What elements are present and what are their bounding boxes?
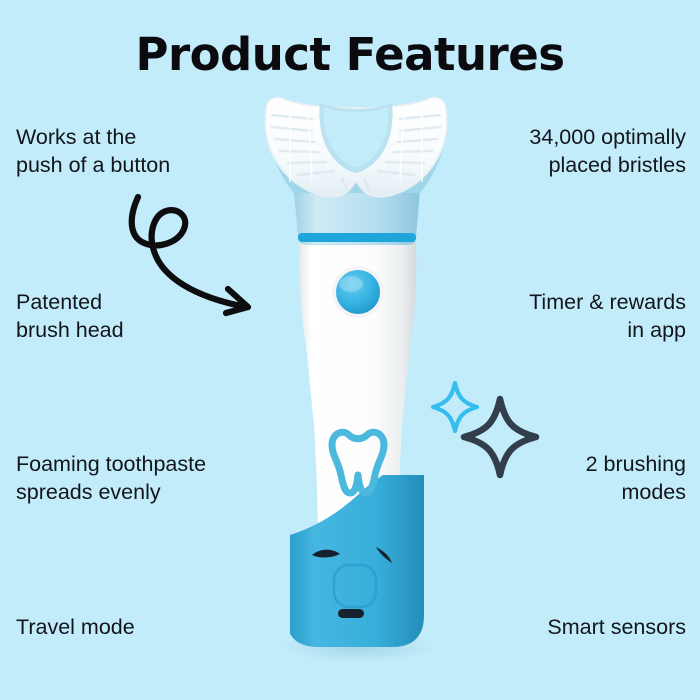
product-image-toothbrush	[250, 95, 460, 665]
feature-label-timer-and-rewards: Timer & rewards in app	[436, 288, 686, 345]
face-mouth-icon	[338, 609, 364, 618]
feature-label-foaming-toothpaste: Foaming toothpaste spreads evenly	[16, 450, 266, 507]
feature-label-travel-mode: Travel mode	[16, 613, 266, 641]
page-title: Product Features	[0, 28, 700, 81]
sparkle-large-icon	[464, 399, 536, 475]
product-accent-band	[298, 233, 416, 242]
product-features-poster: Product Features Works at the push of a …	[0, 0, 700, 700]
feature-label-bristle-count: 34,000 optimally placed bristles	[436, 123, 686, 180]
feature-label-smart-sensors: Smart sensors	[436, 613, 686, 641]
power-button[interactable]	[332, 266, 384, 318]
feature-label-push-of-a-button: Works at the push of a button	[16, 123, 266, 180]
